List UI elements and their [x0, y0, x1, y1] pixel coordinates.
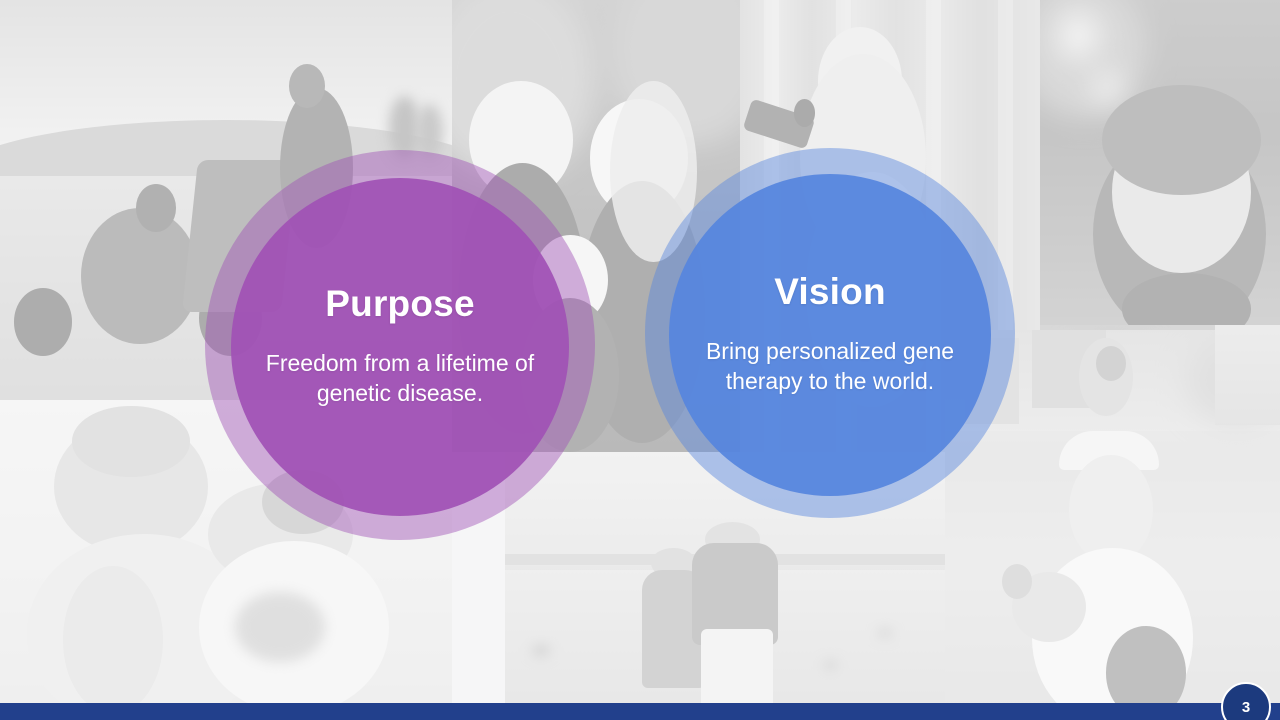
slide-canvas: Purpose Freedom from a lifetime of genet… [0, 0, 1280, 720]
vision-body: Bring personalized gene therapy to the w… [685, 336, 975, 397]
photo-collage [0, 0, 1280, 720]
purpose-circle: Purpose Freedom from a lifetime of genet… [205, 150, 595, 540]
page-number-label: 3 [1242, 699, 1250, 716]
purpose-circle-core: Purpose Freedom from a lifetime of genet… [231, 178, 569, 516]
vision-circle-core: Vision Bring personalized gene therapy t… [669, 174, 991, 496]
photo-right-filler [1215, 325, 1280, 425]
vision-circle: Vision Bring personalized gene therapy t… [645, 148, 1015, 518]
footer-bar [0, 703, 1280, 720]
purpose-title: Purpose [325, 285, 474, 324]
purpose-body: Freedom from a lifetime of genetic disea… [255, 348, 545, 409]
vision-title: Vision [774, 273, 886, 312]
photo-curly-haired-child [1040, 0, 1280, 325]
